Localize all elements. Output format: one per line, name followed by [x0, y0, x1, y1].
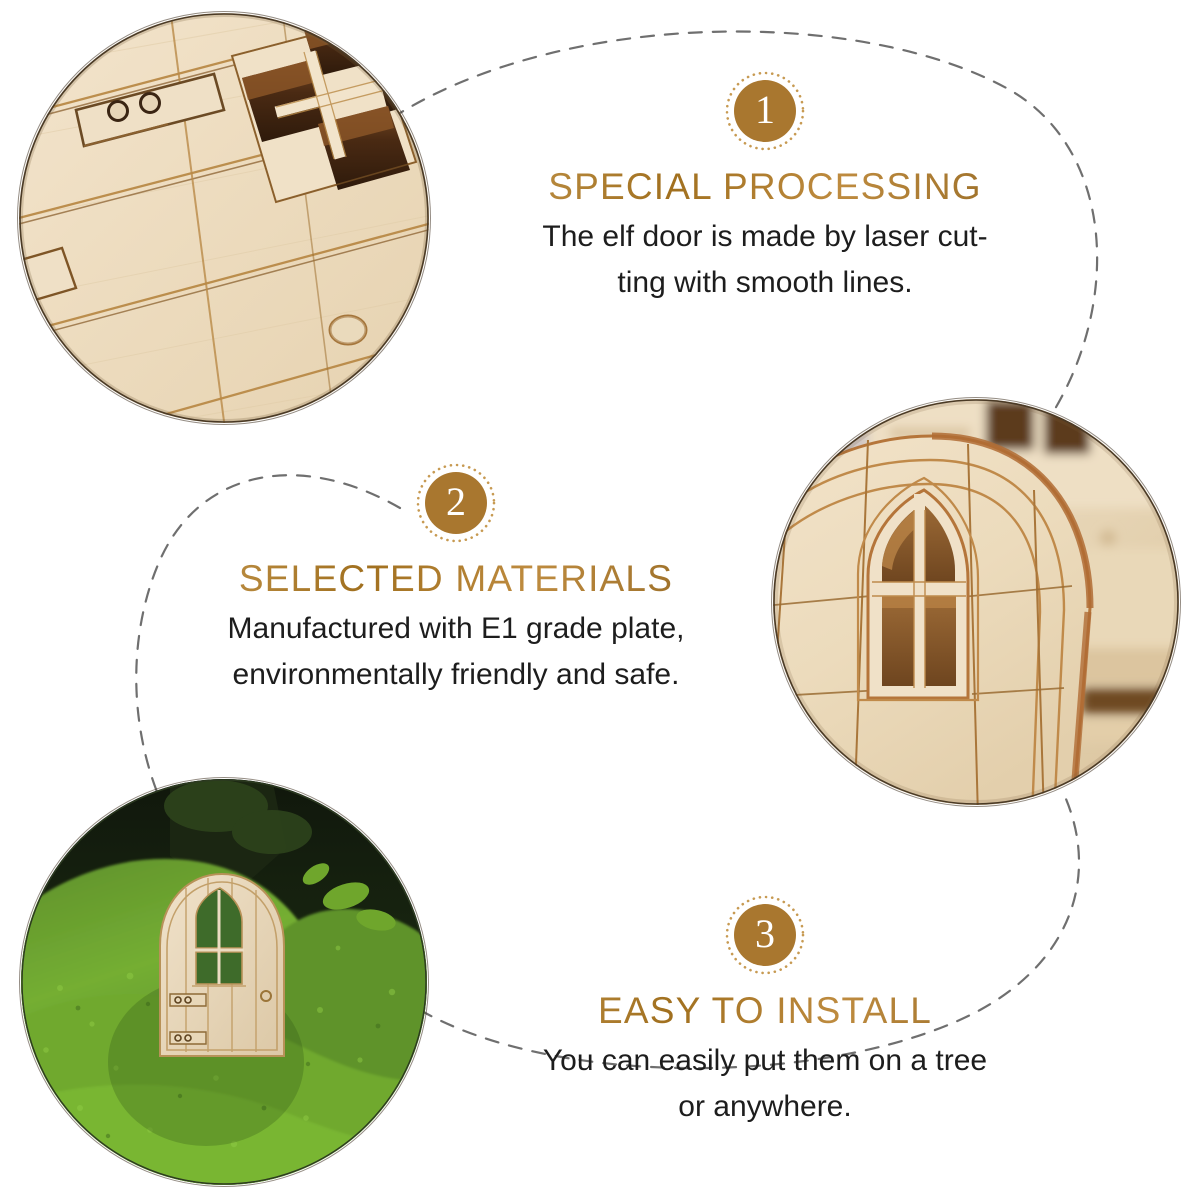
arched-window-closeup-photo — [772, 398, 1180, 806]
section-block-3: 3 EASY TO INSTALL You can easily put the… — [455, 894, 1075, 1129]
step-badge-2: 2 — [415, 462, 497, 544]
infographic-stage: 1 SPECIAL PROCESSING The elf door is mad… — [0, 0, 1200, 1200]
body-line: ting with smooth lines. — [455, 260, 1075, 306]
section-heading-3: EASY TO INSTALL — [455, 990, 1075, 1032]
step-number-2: 2 — [415, 462, 497, 544]
section-heading-1: SPECIAL PROCESSING — [455, 166, 1075, 208]
section-block-2: 2 SELECTED MATERIALS Manufactured with E… — [150, 462, 762, 697]
section-block-1: 1 SPECIAL PROCESSING The elf door is mad… — [455, 70, 1075, 305]
section-body-2: Manufactured with E1 grade plate, enviro… — [150, 606, 762, 697]
step-number-3: 3 — [724, 894, 806, 976]
photo-circle-1 — [18, 12, 430, 424]
section-heading-2: SELECTED MATERIALS — [150, 558, 762, 600]
body-line: or anywhere. — [455, 1084, 1075, 1130]
wooden-door-closeup-photo — [18, 12, 430, 424]
body-line: Manufactured with E1 grade plate, — [150, 606, 762, 652]
step-badge-1: 1 — [724, 70, 806, 152]
door-on-moss-photo — [20, 778, 428, 1186]
photo-circle-2 — [772, 398, 1180, 806]
step-number-1: 1 — [724, 70, 806, 152]
body-line: The elf door is made by laser cut- — [455, 214, 1075, 260]
step-badge-3: 3 — [724, 894, 806, 976]
section-body-3: You can easily put them on a tree or any… — [455, 1038, 1075, 1129]
photo-circle-3 — [20, 778, 428, 1186]
body-line: environmentally friendly and safe. — [150, 652, 762, 698]
section-body-1: The elf door is made by laser cut- ting … — [455, 214, 1075, 305]
body-line: You can easily put them on a tree — [455, 1038, 1075, 1084]
